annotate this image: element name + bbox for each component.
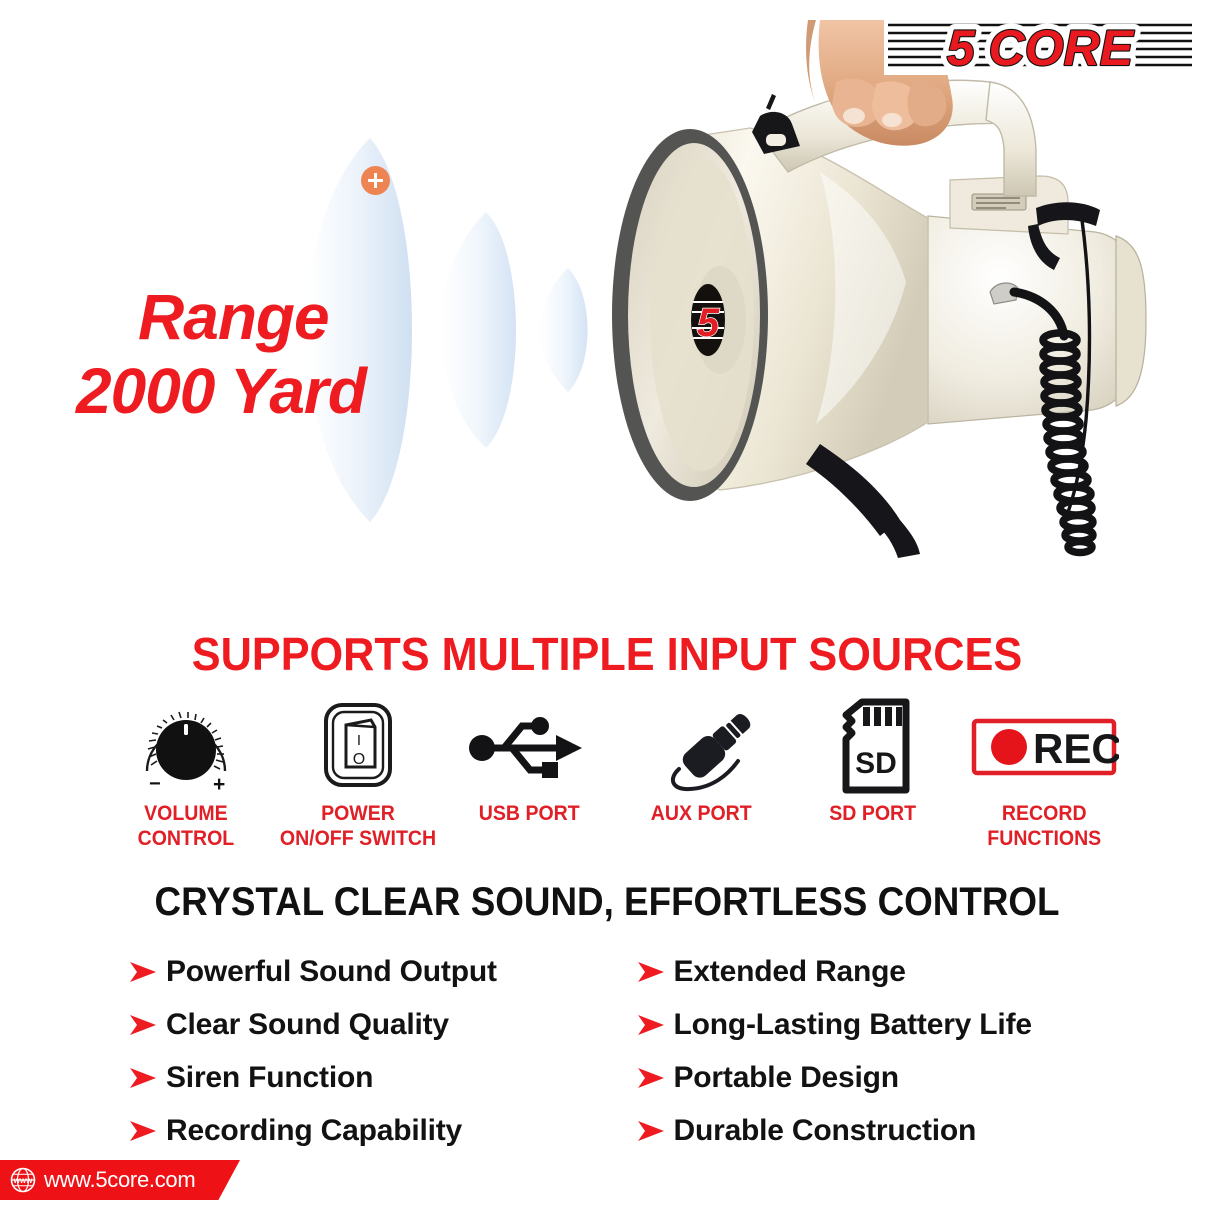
switch-off-mark: O bbox=[352, 751, 364, 768]
feature-column-left: Powerful Sound Output Clear Sound Qualit… bbox=[128, 945, 611, 1157]
input-source-power-switch[interactable]: I O POWER ON/OFF SWITCH bbox=[272, 697, 444, 851]
sd-card-text: SD bbox=[855, 747, 897, 780]
list-item: Clear Sound Quality bbox=[128, 998, 611, 1051]
input-sources-row: − + VOLUME CONTROL I O POWER ON/OFF SWIT… bbox=[100, 697, 1130, 867]
list-item: Extended Range bbox=[636, 945, 1119, 998]
list-item: Powerful Sound Output bbox=[128, 945, 611, 998]
horn-five-badge: 5 bbox=[697, 301, 720, 345]
switch-on-mark: I bbox=[356, 732, 360, 749]
range-line-1: Range bbox=[76, 280, 366, 354]
crystal-clear-heading: CRYSTAL CLEAR SOUND, EFFORTLESS CONTROL bbox=[49, 880, 1166, 925]
volume-knob-icon: − + bbox=[131, 697, 241, 795]
plus-badge-icon bbox=[361, 166, 390, 195]
svg-text:5 CORE: 5 CORE bbox=[947, 20, 1135, 76]
website-url: www.5core.com bbox=[44, 1167, 195, 1193]
red-arrow-bullet-icon bbox=[636, 1067, 674, 1089]
five-core-striped-logo: 5 CORE 5 CORE bbox=[884, 16, 1196, 78]
input-source-label: USB PORT bbox=[479, 801, 580, 826]
input-source-label: VOLUME CONTROL bbox=[138, 801, 235, 851]
range-line-2: 2000 Yard bbox=[76, 354, 366, 428]
red-arrow-bullet-icon bbox=[128, 1014, 166, 1036]
input-source-volume-control[interactable]: − + VOLUME CONTROL bbox=[100, 697, 272, 851]
red-arrow-bullet-icon bbox=[636, 1014, 674, 1036]
sd-card-icon: SD bbox=[818, 697, 928, 795]
feature-column-right: Extended Range Long-Lasting Battery Life… bbox=[611, 945, 1119, 1157]
input-source-label: SD PORT bbox=[829, 801, 916, 826]
list-item: Durable Construction bbox=[636, 1104, 1119, 1157]
red-arrow-bullet-icon bbox=[636, 1120, 674, 1142]
website-footer-banner[interactable]: www www.5core.com bbox=[0, 1160, 240, 1200]
feature-text: Extended Range bbox=[674, 955, 906, 989]
product-infographic: 5 CORE 5 CORE bbox=[0, 0, 1214, 1214]
list-item: Portable Design bbox=[636, 1051, 1119, 1104]
feature-text: Clear Sound Quality bbox=[166, 1008, 449, 1042]
usb-icon bbox=[464, 697, 594, 795]
www-globe-icon: www bbox=[10, 1167, 36, 1193]
feature-text: Portable Design bbox=[674, 1061, 899, 1095]
power-rocker-switch-icon: I O bbox=[303, 697, 413, 795]
feature-text: Durable Construction bbox=[674, 1114, 977, 1148]
supports-heading: SUPPORTS MULTIPLE INPUT SOURCES bbox=[36, 627, 1177, 681]
input-source-label: POWER ON/OFF SWITCH bbox=[279, 801, 435, 851]
list-item: Long-Lasting Battery Life bbox=[636, 998, 1119, 1051]
list-item: Siren Function bbox=[128, 1051, 611, 1104]
red-arrow-bullet-icon bbox=[128, 1120, 166, 1142]
rec-text: REC bbox=[1033, 725, 1119, 772]
red-arrow-bullet-icon bbox=[128, 961, 166, 983]
minus-sign: − bbox=[149, 773, 161, 795]
megaphone-product-photo: 5 bbox=[520, 20, 1160, 600]
feature-text: Long-Lasting Battery Life bbox=[674, 1008, 1032, 1042]
feature-text: Recording Capability bbox=[166, 1114, 462, 1148]
feature-text: Siren Function bbox=[166, 1061, 373, 1095]
red-arrow-bullet-icon bbox=[128, 1067, 166, 1089]
input-source-usb-port[interactable]: USB PORT bbox=[443, 697, 615, 826]
record-dot-icon bbox=[991, 729, 1027, 765]
input-source-label: AUX PORT bbox=[650, 801, 751, 826]
feature-list: Powerful Sound Output Clear Sound Qualit… bbox=[128, 945, 1118, 1157]
svg-text:www: www bbox=[13, 1176, 33, 1185]
input-source-sd-port[interactable]: SD SD PORT bbox=[787, 697, 959, 826]
record-icon: REC bbox=[969, 697, 1119, 795]
input-source-record-functions[interactable]: REC RECORD FUNCTIONS bbox=[958, 697, 1130, 851]
list-item: Recording Capability bbox=[128, 1104, 611, 1157]
range-callout: Range 2000 Yard bbox=[76, 280, 366, 428]
brand-logo: 5 CORE 5 CORE bbox=[884, 16, 1196, 78]
feature-text: Powerful Sound Output bbox=[166, 955, 497, 989]
aux-jack-icon bbox=[646, 697, 756, 795]
plus-sign: + bbox=[213, 773, 225, 795]
red-arrow-bullet-icon bbox=[636, 961, 674, 983]
input-source-aux-port[interactable]: AUX PORT bbox=[615, 697, 787, 826]
input-source-label: RECORD FUNCTIONS bbox=[987, 801, 1101, 851]
